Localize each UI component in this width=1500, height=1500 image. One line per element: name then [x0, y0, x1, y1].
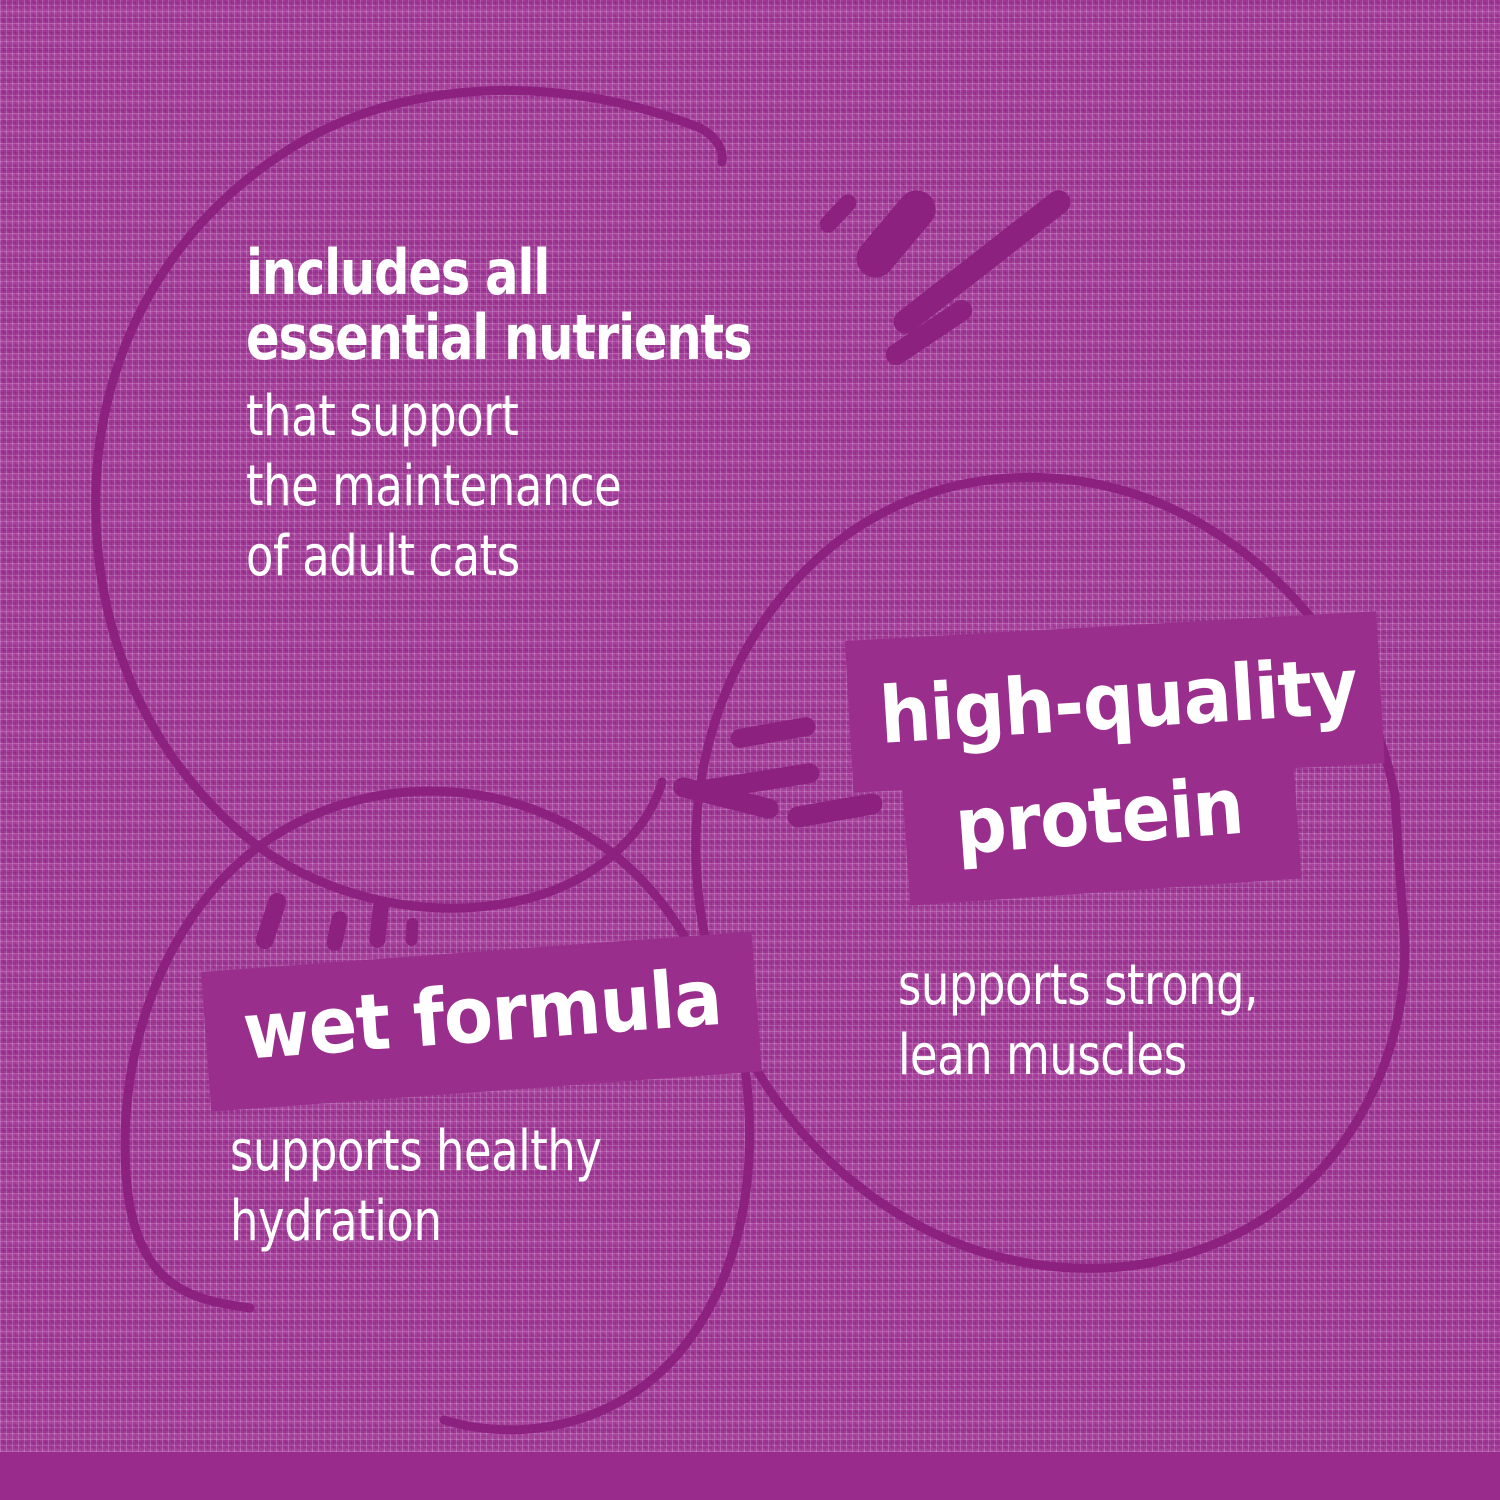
nutrients-headline-line2: essential nutrients: [246, 308, 751, 369]
protein-body-line2: lean muscles: [898, 1022, 1258, 1090]
wet-body-line2: hydration: [230, 1188, 602, 1256]
protein-body: supports strong, lean muscles: [898, 952, 1348, 1091]
hand-drawn-circle-top-left-tail: [700, 128, 722, 162]
nutrients-body-line2: the maintenance: [246, 453, 751, 521]
wet-body: supports healthy hydration: [230, 1118, 694, 1257]
product-feature-poster: includes all essential nutrients that su…: [0, 0, 1500, 1500]
tick-4: [405, 918, 418, 947]
hand-drawn-circle-right-tail: [1395, 795, 1404, 930]
nutrients-headline-line1: includes all: [246, 243, 751, 304]
wet-body-line1: supports healthy: [230, 1118, 602, 1186]
protein-body-line1: supports strong,: [898, 952, 1258, 1020]
nutrients-body-line1: that support: [246, 383, 751, 451]
feature-nutrients: includes all essential nutrients that su…: [246, 243, 878, 591]
nutrients-body-line3: of adult cats: [246, 523, 751, 591]
bottom-color-strip: [0, 1452, 1500, 1500]
